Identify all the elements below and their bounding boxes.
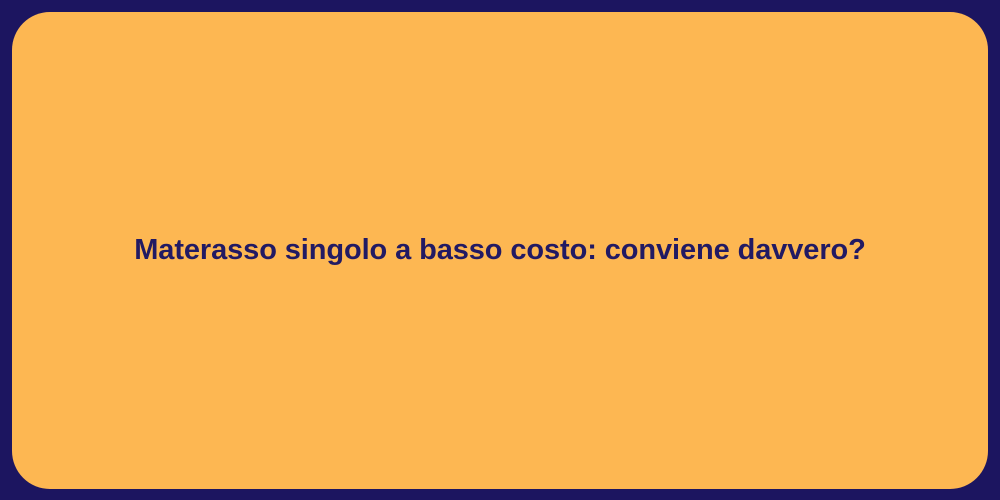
banner-card: Materasso singolo a basso costo: convien… xyxy=(12,12,988,489)
banner-frame: Materasso singolo a basso costo: convien… xyxy=(0,0,1000,500)
page-title: Materasso singolo a basso costo: convien… xyxy=(134,232,866,268)
